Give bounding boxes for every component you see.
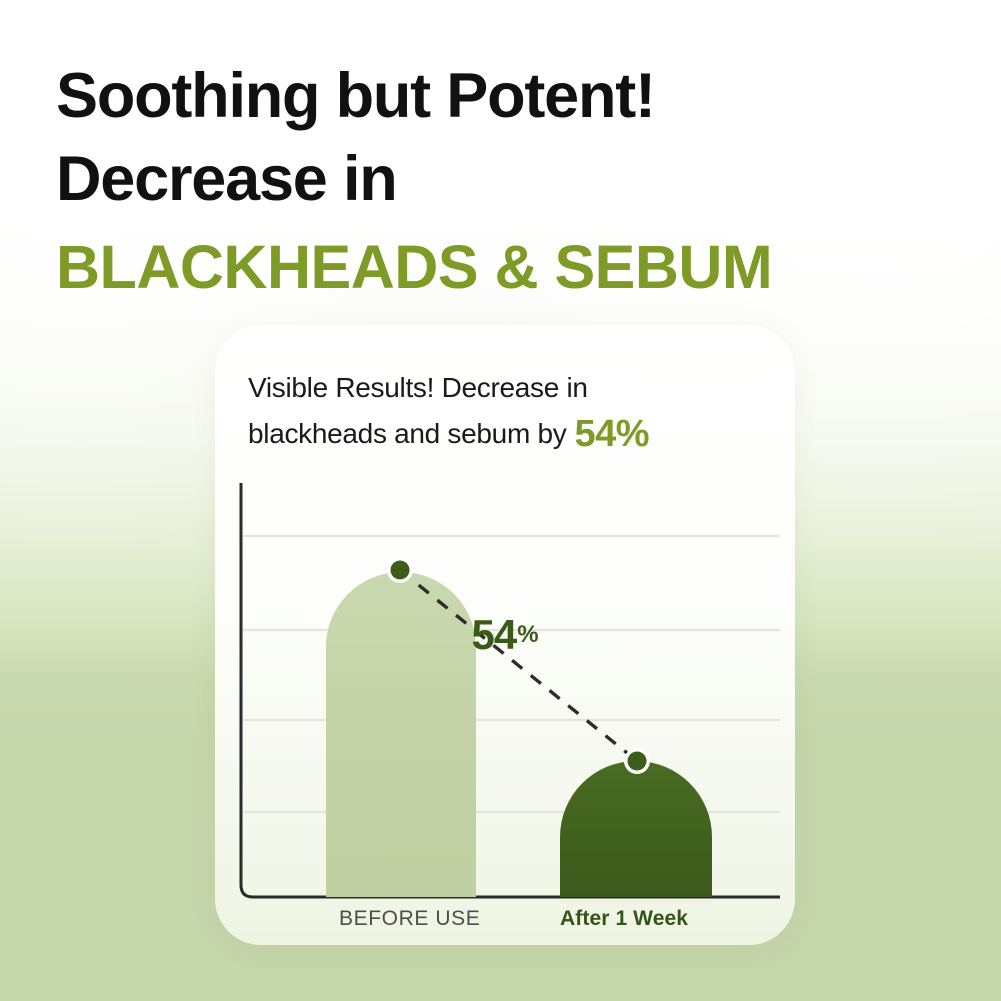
- x-label-before-use: BEFORE USE: [339, 907, 480, 931]
- donut-unit: %: [517, 621, 538, 649]
- result-card: Visible Results! Decrease in blackheads …: [215, 325, 795, 945]
- donut-center-label: 54%: [215, 325, 795, 945]
- headline-block: Soothing but Potent! Decrease in BLACKHE…: [56, 55, 936, 309]
- headline-line-1: Soothing but Potent!: [56, 55, 936, 138]
- x-axis-labels: BEFORE USE After 1 Week: [215, 907, 795, 941]
- donut-value: 54: [471, 611, 516, 659]
- headline-line-2: Decrease in: [56, 138, 936, 221]
- headline-line-3-accent: BLACKHEADS & SEBUM: [56, 226, 936, 309]
- x-label-after-1-week: After 1 Week: [560, 907, 688, 931]
